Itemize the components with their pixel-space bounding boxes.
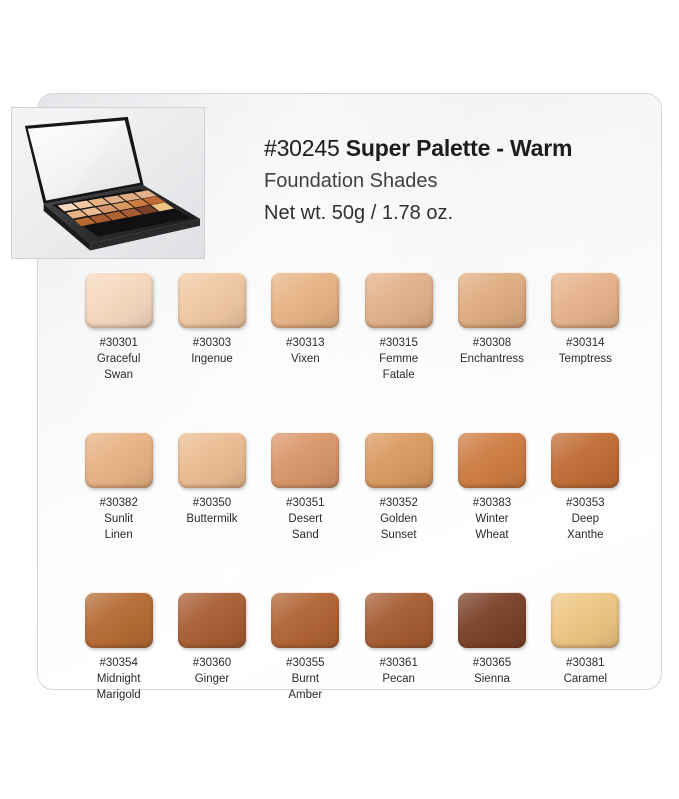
swatch-name: Desert Sand	[259, 511, 352, 543]
swatch-cell[interactable]: #30383Winter Wheat	[445, 432, 538, 543]
swatch-labels: #30308Enchantress	[445, 335, 538, 367]
swatch-name: Ginger	[165, 671, 258, 687]
swatch-grid: #30301Graceful Swan#30303Ingenue#30313Vi…	[72, 272, 632, 703]
swatch-labels: #30313Vixen	[259, 335, 352, 367]
swatch-labels: #30365Sienna	[445, 655, 538, 687]
swatch-color-chip[interactable]	[85, 432, 153, 488]
swatch-cell[interactable]: #30352Golden Sunset	[352, 432, 445, 543]
makeup-palette-photo	[12, 108, 204, 258]
swatch-color-chip[interactable]	[271, 592, 339, 648]
swatch-cell[interactable]: #30382Sunlit Linen	[72, 432, 165, 543]
swatch-code: #30381	[539, 655, 632, 671]
swatch-labels: #30382Sunlit Linen	[72, 495, 165, 543]
swatch-name: Pecan	[352, 671, 445, 687]
swatch-name: Temptress	[539, 351, 632, 367]
swatch-name: Vixen	[259, 351, 352, 367]
swatch-code: #30355	[259, 655, 352, 671]
swatch-cell[interactable]: #30365Sienna	[445, 592, 538, 703]
swatch-color-chip[interactable]	[85, 272, 153, 328]
swatch-labels: #30360Ginger	[165, 655, 258, 687]
swatch-labels: #30301Graceful Swan	[72, 335, 165, 383]
swatch-cell[interactable]: #30361Pecan	[352, 592, 445, 703]
swatch-name: Winter Wheat	[445, 511, 538, 543]
swatch-cell[interactable]: #30350Buttermilk	[165, 432, 258, 543]
swatch-code: #30351	[259, 495, 352, 511]
product-swatch-page: #30245 Super Palette - Warm Foundation S…	[0, 0, 679, 799]
swatch-code: #30361	[352, 655, 445, 671]
swatch-labels: #30354Midnight Marigold	[72, 655, 165, 703]
swatch-name: Buttermilk	[165, 511, 258, 527]
swatch-name: Caramel	[539, 671, 632, 687]
product-subtitle: Foundation Shades	[264, 166, 644, 196]
swatch-cell[interactable]: #30301Graceful Swan	[72, 272, 165, 383]
swatch-labels: #30381Caramel	[539, 655, 632, 687]
swatch-name: Sunlit Linen	[72, 511, 165, 543]
swatch-cell[interactable]: #30313Vixen	[259, 272, 352, 383]
swatch-labels: #30315Femme Fatale	[352, 335, 445, 383]
swatch-color-chip[interactable]	[85, 592, 153, 648]
swatch-color-chip[interactable]	[271, 432, 339, 488]
swatch-cell[interactable]: #30360Ginger	[165, 592, 258, 703]
swatch-name: Ingenue	[165, 351, 258, 367]
swatch-cell[interactable]: #30381Caramel	[539, 592, 632, 703]
swatch-color-chip[interactable]	[551, 272, 619, 328]
swatch-name: Golden Sunset	[352, 511, 445, 543]
product-name: Super Palette - Warm	[346, 135, 572, 161]
swatch-cell[interactable]: #30354Midnight Marigold	[72, 592, 165, 703]
swatch-color-chip[interactable]	[365, 592, 433, 648]
swatch-cell[interactable]: #30355Burnt Amber	[259, 592, 352, 703]
swatch-color-chip[interactable]	[178, 432, 246, 488]
swatch-labels: #30303Ingenue	[165, 335, 258, 367]
swatch-cell[interactable]: #30351Desert Sand	[259, 432, 352, 543]
swatch-color-chip[interactable]	[365, 272, 433, 328]
swatch-code: #30353	[539, 495, 632, 511]
swatch-name: Graceful Swan	[72, 351, 165, 383]
swatch-labels: #30383Winter Wheat	[445, 495, 538, 543]
swatch-code: #30313	[259, 335, 352, 351]
swatch-code: #30382	[72, 495, 165, 511]
product-sku: #30245	[264, 135, 340, 161]
page-title: #30245 Super Palette - Warm	[264, 133, 644, 163]
swatch-labels: #30351Desert Sand	[259, 495, 352, 543]
swatch-code: #30308	[445, 335, 538, 351]
swatch-code: #30350	[165, 495, 258, 511]
swatch-code: #30314	[539, 335, 632, 351]
swatch-cell[interactable]: #30303Ingenue	[165, 272, 258, 383]
swatch-labels: #30355Burnt Amber	[259, 655, 352, 703]
swatch-labels: #30352Golden Sunset	[352, 495, 445, 543]
swatch-color-chip[interactable]	[458, 432, 526, 488]
swatch-labels: #30350Buttermilk	[165, 495, 258, 527]
swatch-name: Deep Xanthe	[539, 511, 632, 543]
swatch-color-chip[interactable]	[551, 592, 619, 648]
swatch-color-chip[interactable]	[178, 592, 246, 648]
swatch-code: #30383	[445, 495, 538, 511]
swatch-color-chip[interactable]	[458, 272, 526, 328]
swatch-code: #30360	[165, 655, 258, 671]
swatch-color-chip[interactable]	[458, 592, 526, 648]
swatch-name: Burnt Amber	[259, 671, 352, 703]
swatch-cell[interactable]: #30314Temptress	[539, 272, 632, 383]
swatch-labels: #30361Pecan	[352, 655, 445, 687]
swatch-name: Midnight Marigold	[72, 671, 165, 703]
swatch-code: #30315	[352, 335, 445, 351]
swatch-color-chip[interactable]	[178, 272, 246, 328]
swatch-labels: #30353Deep Xanthe	[539, 495, 632, 543]
swatch-name: Enchantress	[445, 351, 538, 367]
swatch-code: #30301	[72, 335, 165, 351]
swatch-color-chip[interactable]	[551, 432, 619, 488]
swatch-cell[interactable]: #30353Deep Xanthe	[539, 432, 632, 543]
swatch-code: #30303	[165, 335, 258, 351]
palette-thumbnail[interactable]	[11, 107, 205, 259]
swatch-cell[interactable]: #30308Enchantress	[445, 272, 538, 383]
product-net-weight: Net wt. 50g / 1.78 oz.	[264, 198, 644, 228]
swatch-code: #30365	[445, 655, 538, 671]
swatch-code: #30352	[352, 495, 445, 511]
swatch-cell[interactable]: #30315Femme Fatale	[352, 272, 445, 383]
product-header: #30245 Super Palette - Warm Foundation S…	[264, 133, 644, 228]
swatch-name: Sienna	[445, 671, 538, 687]
swatch-color-chip[interactable]	[271, 272, 339, 328]
swatch-labels: #30314Temptress	[539, 335, 632, 367]
swatch-name: Femme Fatale	[352, 351, 445, 383]
swatch-code: #30354	[72, 655, 165, 671]
swatch-color-chip[interactable]	[365, 432, 433, 488]
